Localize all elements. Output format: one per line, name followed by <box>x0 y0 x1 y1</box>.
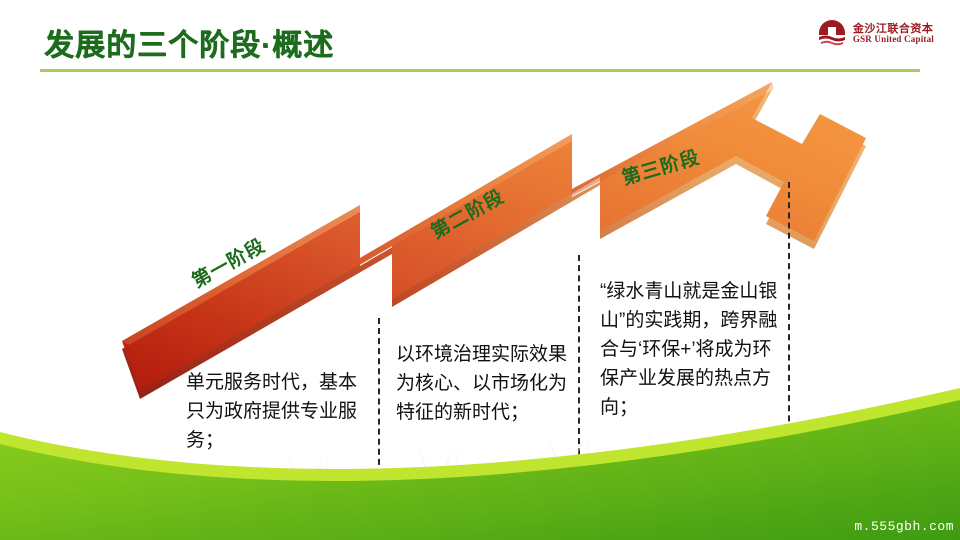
bottom-green-band: m.555gbh.com <box>0 360 960 540</box>
watermark: m.555gbh.com <box>854 519 954 534</box>
slide-canvas: 发展的三个阶段·概述 金沙江联合资本 GSR United Capital <box>0 0 960 540</box>
